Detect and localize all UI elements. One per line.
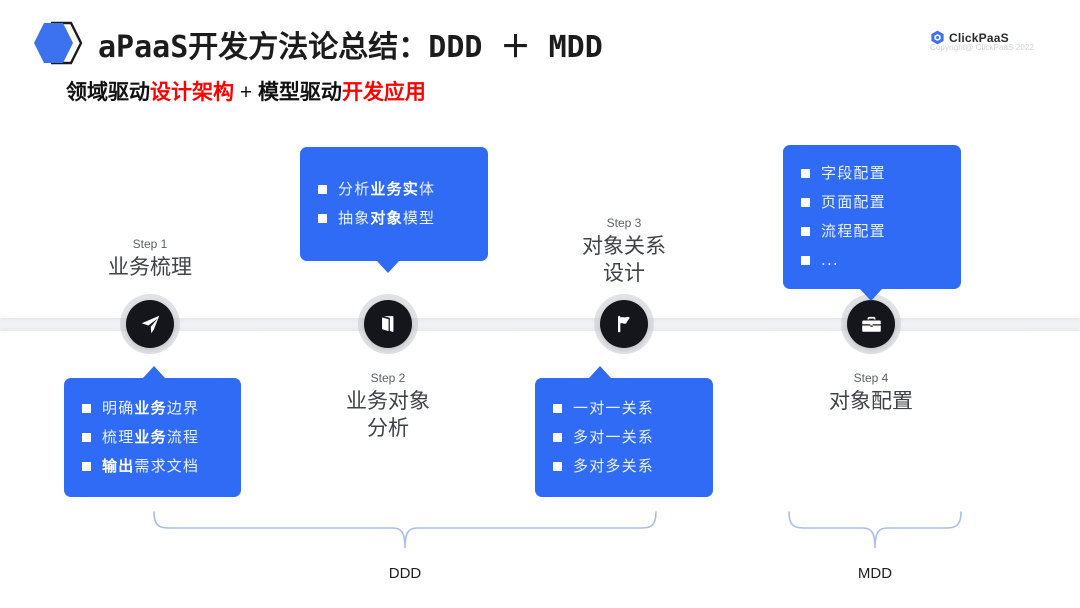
bullet-square-icon — [801, 256, 810, 265]
list-item-label: 一对一关系 — [573, 394, 654, 423]
brace-ddd — [150, 510, 660, 550]
subtitle-seg-4: 模型驱动 — [258, 81, 342, 104]
list-item: 多对多关系 — [553, 452, 695, 481]
step-name-1: 业务梳理 — [70, 254, 230, 281]
list-item: 多对一关系 — [553, 423, 695, 452]
step-caption-2: Step 2 业务对象 分析 — [308, 370, 468, 442]
callout-box-step-3[interactable]: 一对一关系 多对一关系 多对多关系 — [535, 378, 713, 497]
list-item-label: 分析业务实体 — [338, 175, 435, 204]
step-caption-3: Step 3 对象关系 设计 — [544, 215, 704, 287]
brace-label-ddd: DDD — [335, 565, 475, 582]
brand-block: ClickPaaS Copyright@ ClickPaaS 2022 — [930, 30, 1050, 52]
subtitle-seg-2: 设计架构 — [150, 81, 234, 104]
list-item-label: ... — [821, 246, 839, 275]
bullet-square-icon — [82, 462, 91, 471]
list-item: 一对一关系 — [553, 394, 695, 423]
list-item-label: 输出需求文档 — [102, 452, 199, 481]
page-subtitle: 领域驱动设计架构 + 模型驱动开发应用 — [66, 76, 426, 106]
paper-plane-icon — [140, 314, 161, 335]
hexagon-logo-icon — [30, 20, 92, 66]
list-item-label: 多对一关系 — [573, 423, 654, 452]
brace-label-mdd: MDD — [805, 565, 945, 582]
callout-box-step-4[interactable]: 字段配置 页面配置 流程配置 ... — [783, 145, 961, 289]
briefcase-icon — [861, 314, 882, 335]
copyright-text: Copyright@ ClickPaaS 2022 — [930, 43, 1050, 52]
step-number-1: Step 1 — [70, 236, 230, 252]
bullet-square-icon — [801, 198, 810, 207]
step-number-3: Step 3 — [544, 215, 704, 231]
bullet-square-icon — [553, 433, 562, 442]
timeline-node-step-3[interactable] — [600, 300, 648, 348]
list-item: 页面配置 — [801, 188, 943, 217]
list-item: 抽象对象模型 — [318, 204, 470, 233]
bullet-square-icon — [318, 185, 327, 194]
step-caption-1: Step 1 业务梳理 — [70, 236, 230, 281]
subtitle-seg-5: 开发应用 — [342, 81, 426, 104]
list-item: 明确业务边界 — [82, 394, 223, 423]
bullet-square-icon — [801, 227, 810, 236]
list-item-label: 抽象对象模型 — [338, 204, 435, 233]
callout-box-step-2[interactable]: 分析业务实体 抽象对象模型 — [300, 147, 488, 261]
step-name-4: 对象配置 — [791, 388, 951, 415]
list-item-label: 梳理业务流程 — [102, 423, 199, 452]
bullet-square-icon — [801, 169, 810, 178]
slide-canvas: aPaaS开发方法论总结：DDD ＋ MDD 领域驱动设计架构 + 模型驱动开发… — [0, 0, 1080, 608]
subtitle-seg-3: + — [234, 81, 258, 104]
list-item: ... — [801, 246, 943, 275]
flag-icon — [614, 314, 634, 334]
list-item: 梳理业务流程 — [82, 423, 223, 452]
list-item-label: 字段配置 — [821, 159, 886, 188]
list-item-label: 明确业务边界 — [102, 394, 199, 423]
step-caption-4: Step 4 对象配置 — [791, 370, 951, 415]
bullet-square-icon — [82, 404, 91, 413]
timeline-node-step-1[interactable] — [126, 300, 174, 348]
step-name-3: 对象关系 设计 — [544, 233, 704, 287]
list-item-label: 多对多关系 — [573, 452, 654, 481]
bullet-square-icon — [318, 214, 327, 223]
bullet-square-icon — [553, 404, 562, 413]
bullet-square-icon — [553, 462, 562, 471]
bullet-square-icon — [82, 433, 91, 442]
step-number-4: Step 4 — [791, 370, 951, 386]
callout-box-step-1[interactable]: 明确业务边界 梳理业务流程 输出需求文档 — [64, 378, 241, 497]
timeline-node-step-4[interactable] — [847, 300, 895, 348]
book-icon — [378, 314, 398, 334]
list-item-label: 流程配置 — [821, 217, 886, 246]
list-item: 字段配置 — [801, 159, 943, 188]
page-title: aPaaS开发方法论总结：DDD ＋ MDD — [98, 22, 603, 66]
list-item-label: 页面配置 — [821, 188, 886, 217]
subtitle-seg-1: 领域驱动 — [66, 81, 150, 104]
list-item: 流程配置 — [801, 217, 943, 246]
brace-mdd — [785, 510, 965, 550]
list-item: 输出需求文档 — [82, 452, 223, 481]
step-name-2: 业务对象 分析 — [308, 388, 468, 442]
timeline-node-step-2[interactable] — [364, 300, 412, 348]
list-item: 分析业务实体 — [318, 175, 470, 204]
step-number-2: Step 2 — [308, 370, 468, 386]
